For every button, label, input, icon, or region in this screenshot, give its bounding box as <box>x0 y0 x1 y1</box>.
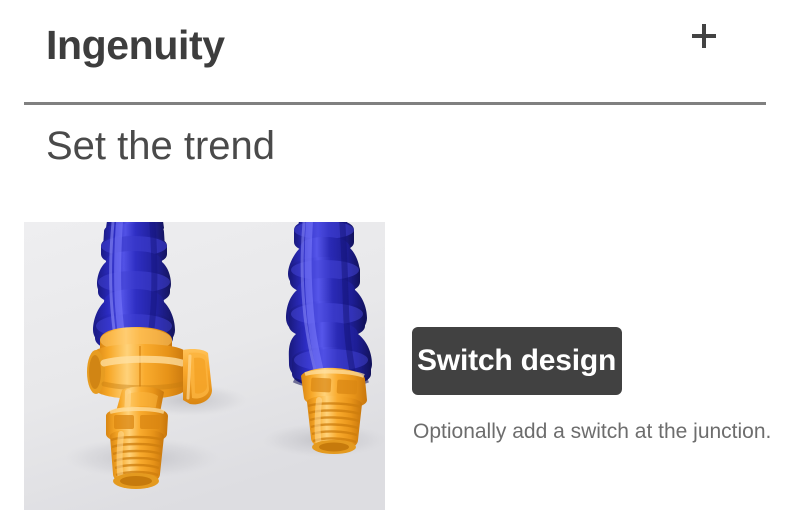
product-photo-illustration <box>24 222 385 510</box>
page-header: Ingenuity <box>0 0 791 104</box>
switch-design-callout-label: Switch design <box>417 327 622 395</box>
switch-design-callout[interactable]: Switch design <box>412 327 622 395</box>
product-photo <box>24 222 385 510</box>
detail-column: Switch design Optionally add a switch at… <box>412 222 778 510</box>
section-heading: Set the trend <box>46 118 275 174</box>
add-button[interactable] <box>687 15 721 57</box>
page-title: Ingenuity <box>46 16 225 74</box>
plus-icon <box>687 15 721 57</box>
header-divider <box>24 102 766 105</box>
detail-caption: Optionally add a switch at the junction. <box>413 418 771 446</box>
